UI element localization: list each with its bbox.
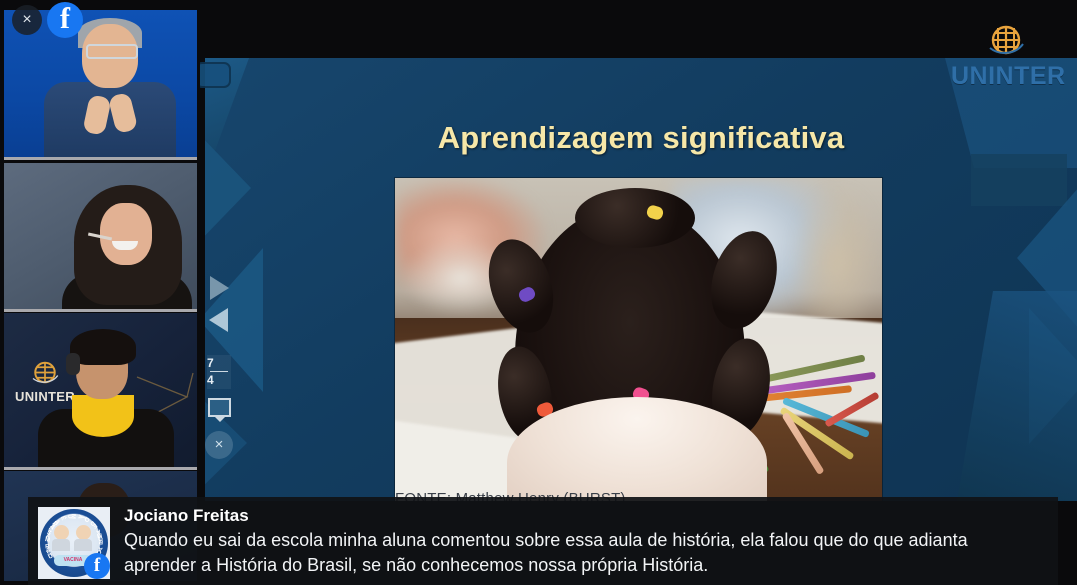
participant-tile-presenter[interactable] <box>4 163 197 312</box>
participant-tile-speaker[interactable]: UNINTER <box>4 313 197 470</box>
slide-photo <box>395 178 882 501</box>
play-triangle-right-icon[interactable] <box>210 276 229 300</box>
globe-icon <box>986 22 1026 62</box>
projector-screen-icon[interactable] <box>208 398 231 422</box>
slide-counter-current: 7 <box>207 355 231 371</box>
facebook-icon[interactable]: f <box>47 2 83 38</box>
slide-title: Aprendizagem significativa <box>205 120 1077 156</box>
live-caption-overlay: USAR MÁSCARA É UM ATO DE AMOR AO VACINA … <box>28 497 1058 585</box>
slide-control-strip[interactable]: 7 4 × <box>203 58 235 501</box>
facebook-icon: f <box>84 553 110 579</box>
close-presentation-icon[interactable]: × <box>205 431 233 459</box>
globe-icon <box>30 359 60 389</box>
video-stream-window: Aprendizagem significativa <box>0 0 1077 585</box>
avatar-people <box>52 525 94 555</box>
avatar[interactable]: USAR MÁSCARA É UM ATO DE AMOR AO VACINA … <box>38 507 110 579</box>
caption-body: Quando eu sai da escola minha aluna come… <box>124 528 1004 578</box>
uninter-wordmark: UNINTER <box>8 389 82 404</box>
caption-author: Jociano Freitas <box>124 505 1004 527</box>
play-triangle-left-icon[interactable] <box>209 308 228 332</box>
slide-counter-total: 4 <box>207 372 231 388</box>
presentation-slide[interactable]: Aprendizagem significativa <box>205 58 1077 501</box>
headset-mic-icon <box>66 353 80 375</box>
slide-counter: 7 4 <box>207 355 231 389</box>
close-icon[interactable]: × <box>12 5 42 35</box>
caption-text-block: Jociano Freitas Quando eu sai da escola … <box>124 497 1004 578</box>
eyeglasses-icon <box>86 44 138 59</box>
slide-toolbar-pill[interactable] <box>195 62 231 88</box>
